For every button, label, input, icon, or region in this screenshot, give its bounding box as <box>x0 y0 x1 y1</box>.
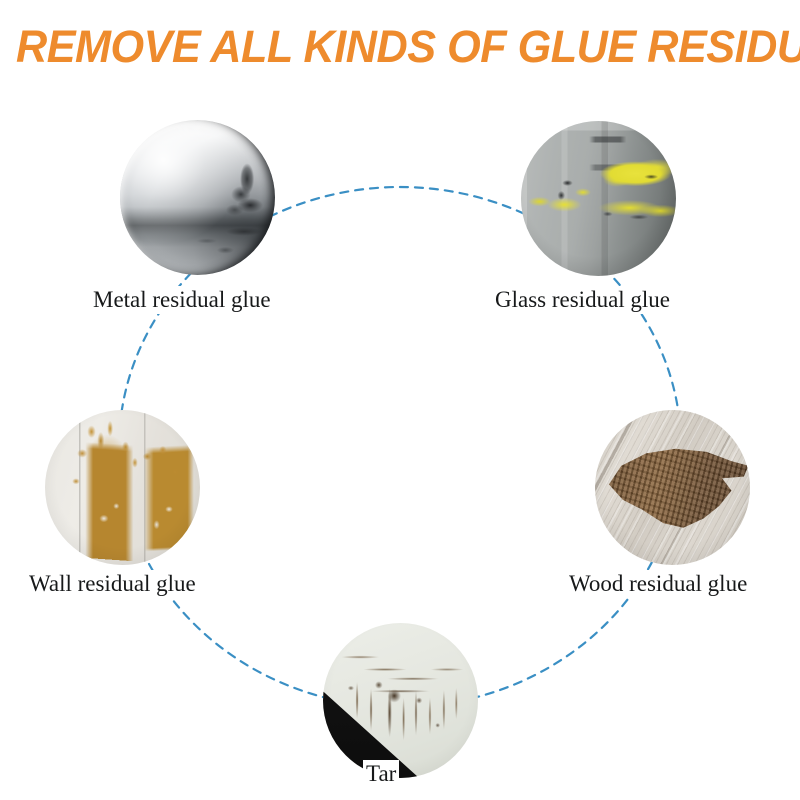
item-image-glass <box>521 121 676 276</box>
item-image-wood <box>595 410 750 565</box>
item-image-wall <box>45 410 200 565</box>
item-label-wood: Wood residual glue <box>566 570 750 598</box>
promo-graphic-canvas: REMOVE ALL KINDS OF GLUE RESIDUE <box>0 0 800 800</box>
tar-vignette-layer <box>323 623 478 778</box>
item-label-metal: Metal residual glue <box>90 286 274 314</box>
metal-edge-layer <box>120 120 275 275</box>
glass-vignette-layer <box>521 121 676 276</box>
item-image-metal <box>120 120 275 275</box>
item-label-tar: Tar <box>363 760 399 788</box>
wood-vignette-layer <box>595 410 750 565</box>
item-image-tar <box>323 623 478 778</box>
item-label-glass: Glass residual glue <box>492 286 673 314</box>
wall-vignette-layer <box>45 410 200 565</box>
page-title: REMOVE ALL KINDS OF GLUE RESIDUE <box>16 22 784 72</box>
item-label-wall: Wall residual glue <box>26 570 199 598</box>
